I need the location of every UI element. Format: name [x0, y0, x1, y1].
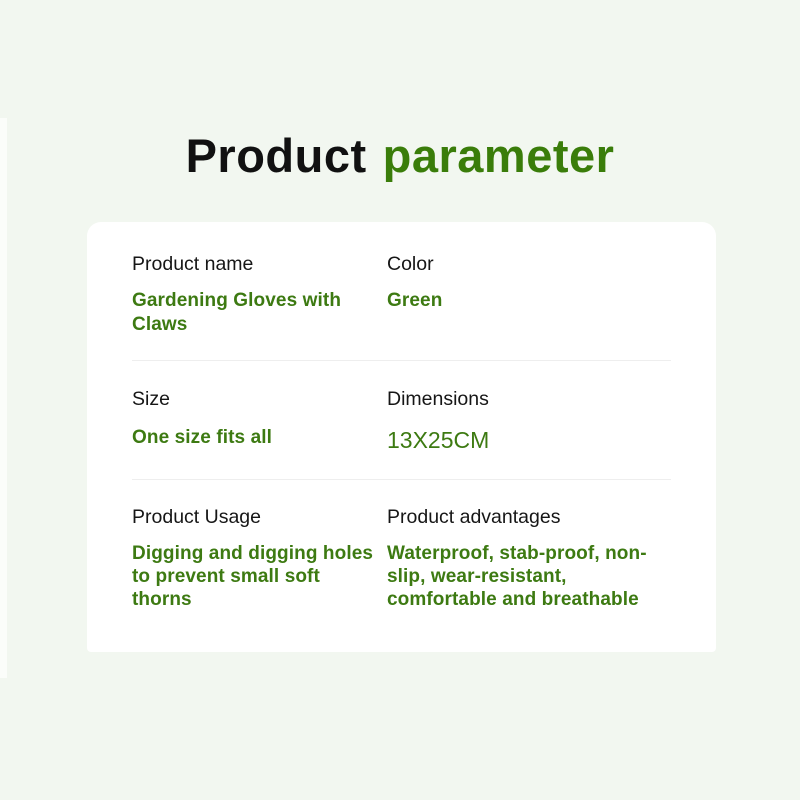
spec-cell-dimensions: Dimensions 13X25CM	[387, 387, 671, 454]
spec-label: Size	[132, 387, 377, 411]
row-spacer	[132, 454, 671, 479]
spec-value: One size fits all	[132, 426, 377, 449]
spec-row: Size One size fits all Dimensions 13X25C…	[132, 361, 671, 454]
spec-label: Product advantages	[387, 505, 671, 529]
page-title: Productparameter	[0, 130, 800, 182]
spec-label: Dimensions	[387, 387, 671, 411]
spec-label: Product name	[132, 252, 377, 276]
spec-cell-color: Color Green	[387, 252, 671, 336]
left-edge-artifact	[0, 118, 7, 678]
spec-table: Product name Gardening Gloves with Claws…	[132, 252, 671, 611]
spec-value: Digging and digging holes to prevent sma…	[132, 542, 377, 612]
spec-cell-product-name: Product name Gardening Gloves with Claws	[132, 252, 387, 336]
spec-cell-size: Size One size fits all	[132, 387, 387, 454]
spec-value: Green	[387, 289, 671, 312]
page-title-accent: parameter	[383, 129, 615, 182]
spec-value: 13X25CM	[387, 426, 671, 454]
row-spacer	[132, 336, 671, 360]
product-parameter-page: Productparameter Product name Gardening …	[0, 0, 800, 800]
spec-label: Product Usage	[132, 505, 377, 529]
spec-cell-product-advantages: Product advantages Waterproof, stab-proo…	[387, 505, 671, 611]
spec-cell-product-usage: Product Usage Digging and digging holes …	[132, 505, 387, 611]
spec-value: Waterproof, stab-proof, non-slip, wear-r…	[387, 542, 671, 612]
product-parameter-card: Product name Gardening Gloves with Claws…	[87, 222, 716, 652]
page-title-primary: Product	[186, 129, 367, 182]
spec-row: Product Usage Digging and digging holes …	[132, 480, 671, 611]
spec-value: Gardening Gloves with Claws	[132, 289, 377, 335]
spec-label: Color	[387, 252, 671, 276]
spec-row: Product name Gardening Gloves with Claws…	[132, 252, 671, 336]
